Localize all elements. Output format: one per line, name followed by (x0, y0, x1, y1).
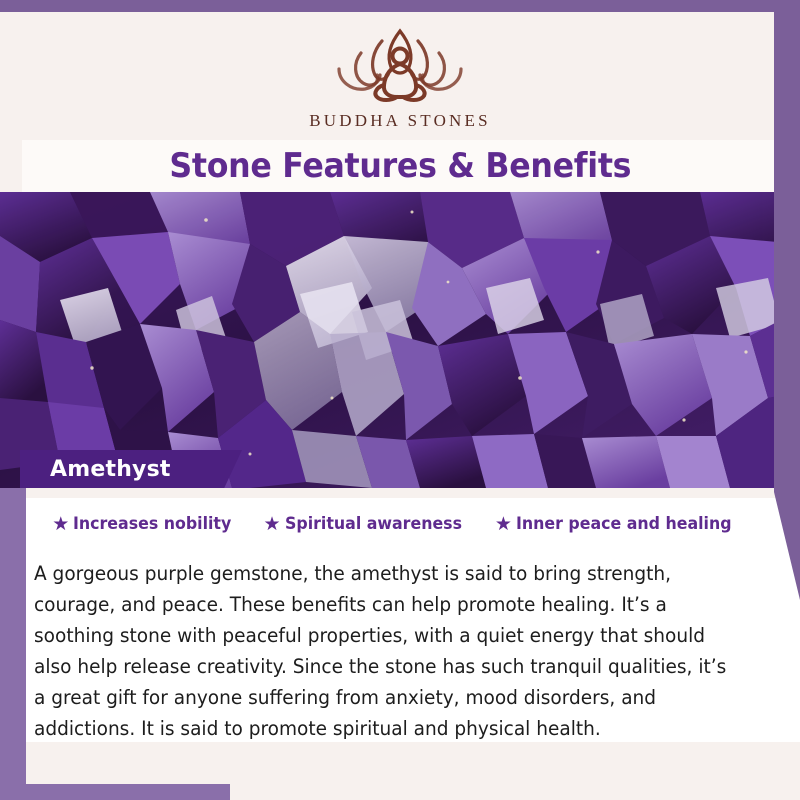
frame-border-left (0, 488, 26, 800)
infographic-page: BUDDHA STONES Stone Features & Benefits (0, 0, 800, 800)
page-title: Stone Features & Benefits (169, 146, 631, 186)
description-paragraph: A gorgeous purple gemstone, the amethyst… (34, 558, 737, 744)
stone-name-banner: Amethyst (20, 450, 242, 488)
feature-item-2: ★ Spiritual awareness (264, 514, 475, 534)
amethyst-photo (0, 192, 800, 488)
amethyst-crystal-cluster-graphic (0, 192, 800, 488)
description-section: ★ Increases nobility ★ Spiritual awarene… (0, 488, 800, 800)
star-icon: ★ (495, 515, 512, 534)
feature-item-1: ★ Increases nobility (52, 514, 243, 534)
feature-label-3: Inner peace and healing (516, 514, 732, 534)
feature-item-3: ★ Inner peace and healing (495, 514, 748, 534)
star-icon: ★ (264, 515, 281, 534)
brand-header: BUDDHA STONES (0, 12, 800, 142)
content-top-strip (0, 488, 800, 498)
stone-name-label: Amethyst (50, 457, 171, 482)
lotus-meditation-figure-icon (325, 23, 475, 109)
frame-border-top (0, 0, 800, 12)
brand-name: BUDDHA STONES (309, 111, 491, 131)
title-band: Stone Features & Benefits (22, 140, 778, 192)
star-icon: ★ (52, 515, 69, 534)
frame-border-bottom-left (0, 784, 230, 800)
feature-label-2: Spiritual awareness (285, 514, 462, 534)
feature-label-1: Increases nobility (73, 514, 231, 534)
feature-list: ★ Increases nobility ★ Spiritual awarene… (0, 514, 800, 534)
